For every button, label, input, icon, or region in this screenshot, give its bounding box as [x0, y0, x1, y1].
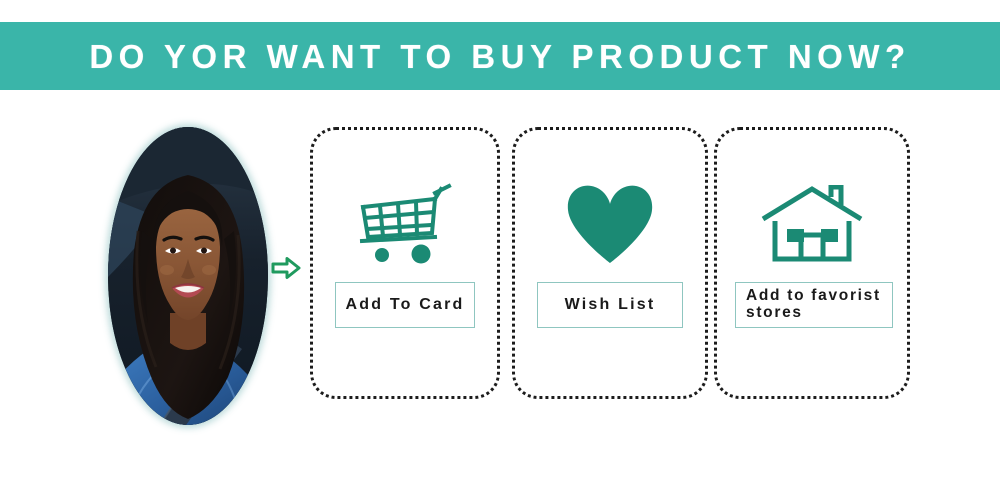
- action-card-favorite-stores[interactable]: Add to favorist stores: [714, 127, 910, 399]
- add-to-cart-button-label: Add To Card: [345, 296, 464, 313]
- promo-banner: DO YOR WANT TO BUY PRODUCT NOW?: [0, 22, 1000, 90]
- favorite-stores-button[interactable]: Add to favorist stores: [735, 282, 893, 328]
- add-to-cart-button[interactable]: Add To Card: [335, 282, 475, 328]
- portrait-oval-frame: [108, 127, 268, 425]
- house-icon: [717, 178, 907, 270]
- wish-list-button-label: Wish List: [565, 296, 656, 313]
- wish-list-button[interactable]: Wish List: [537, 282, 683, 328]
- shopping-cart-icon: [313, 178, 497, 270]
- favorite-stores-button-label: Add to favorist stores: [746, 288, 881, 321]
- page-title: DO YOR WANT TO BUY PRODUCT NOW?: [89, 40, 910, 73]
- portrait-image: [108, 127, 268, 425]
- arrow-right-icon: [271, 256, 301, 280]
- action-card-wish-list[interactable]: Wish List: [512, 127, 708, 399]
- customer-portrait: [108, 127, 268, 425]
- action-card-add-to-cart[interactable]: Add To Card: [310, 127, 500, 399]
- heart-icon: [515, 178, 705, 270]
